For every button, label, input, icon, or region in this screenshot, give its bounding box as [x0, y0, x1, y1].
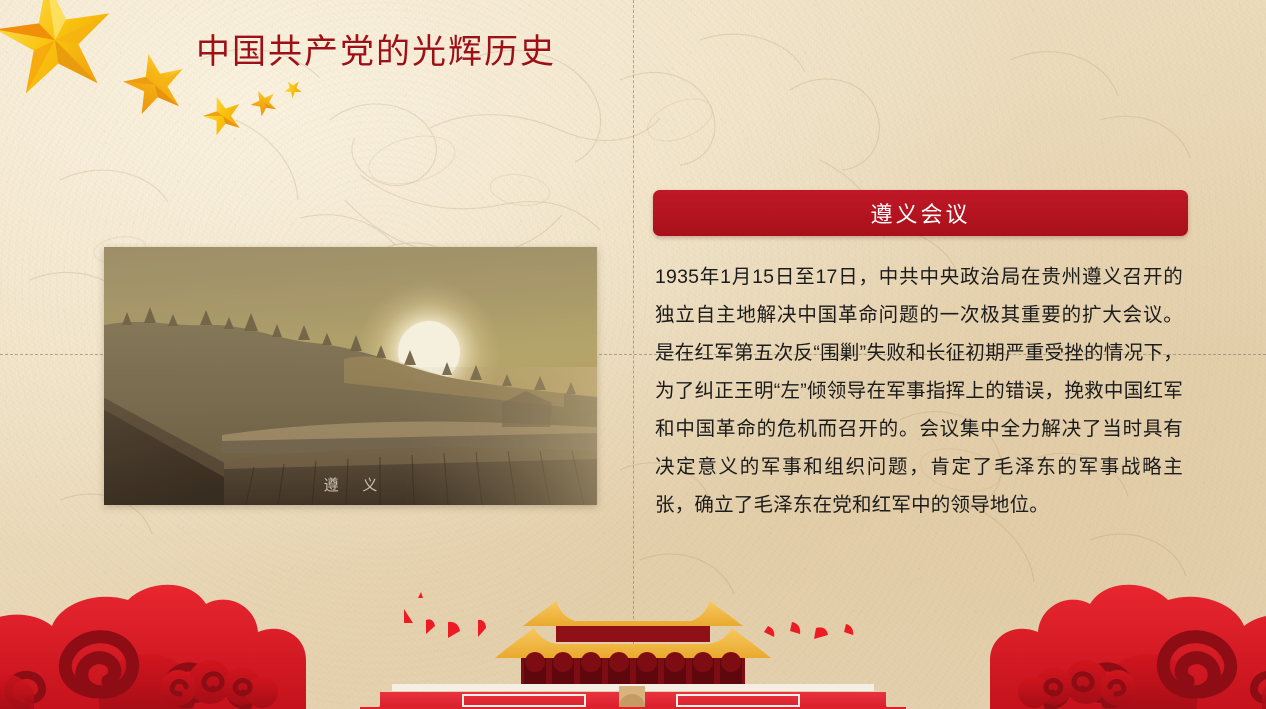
section-header-banner: 遵义会议 — [653, 190, 1188, 236]
photo-caption: 遵 义 — [104, 474, 597, 495]
star-icon-4 — [247, 85, 281, 118]
bottom-decoration — [0, 574, 1266, 709]
zunyi-sunrise-image — [104, 247, 597, 505]
tiananmen-gate-icon — [360, 601, 906, 709]
cloud-icon-left — [0, 585, 306, 709]
presentation-slide: 中国共产党的光辉历史 — [0, 0, 1266, 709]
section-header-label: 遵义会议 — [870, 197, 970, 229]
star-icon-1 — [0, 0, 119, 96]
zunyi-photo: 遵 义 — [104, 247, 597, 505]
star-icon-5 — [281, 77, 305, 100]
star-icon-2 — [119, 48, 190, 117]
section-body-paragraph: 1935年1月15日至17日，中共中央政治局在贵州遵义召开的独立自主地解决中国革… — [655, 258, 1183, 524]
star-icon-3 — [198, 91, 246, 138]
cloud-icon-right — [990, 585, 1266, 709]
flag-icons-left — [404, 609, 486, 638]
page-title: 中国共产党的光辉历史 — [196, 24, 556, 73]
